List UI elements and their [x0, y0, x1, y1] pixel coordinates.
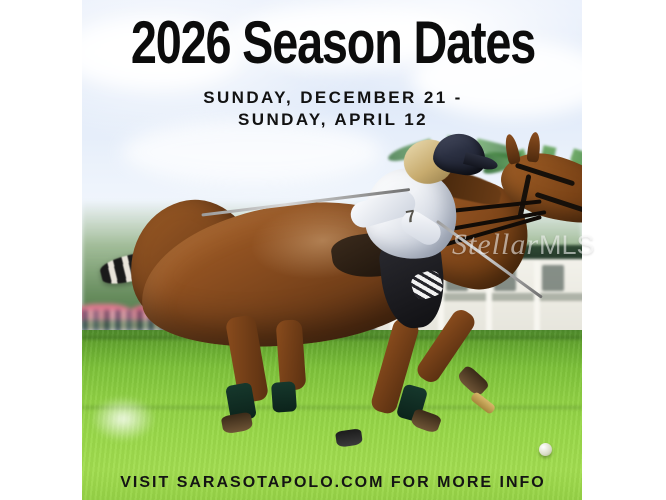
turf-divot [90, 396, 156, 442]
subtitle-line-1: SUNDAY, DECEMBER 21 - [0, 87, 666, 109]
horse-hindleg-right [276, 319, 307, 391]
polo-season-dates-poster: 7 2026 Season Dates SUNDAY, DECEMBER 21 … [0, 0, 666, 500]
right-white-margin [582, 0, 666, 500]
page-title: 2026 Season Dates [73, 13, 592, 73]
horse-leg-wrap-hind-right [271, 381, 297, 413]
polo-ball [539, 443, 552, 456]
subtitle-line-2: SUNDAY, APRIL 12 [0, 109, 666, 131]
footer-website-callout: VISIT SARASOTAPOLO.COM FOR MORE INFO [0, 474, 666, 492]
left-white-margin [0, 0, 82, 500]
season-dates-subtitle: SUNDAY, DECEMBER 21 - SUNDAY, APRIL 12 [0, 87, 666, 131]
